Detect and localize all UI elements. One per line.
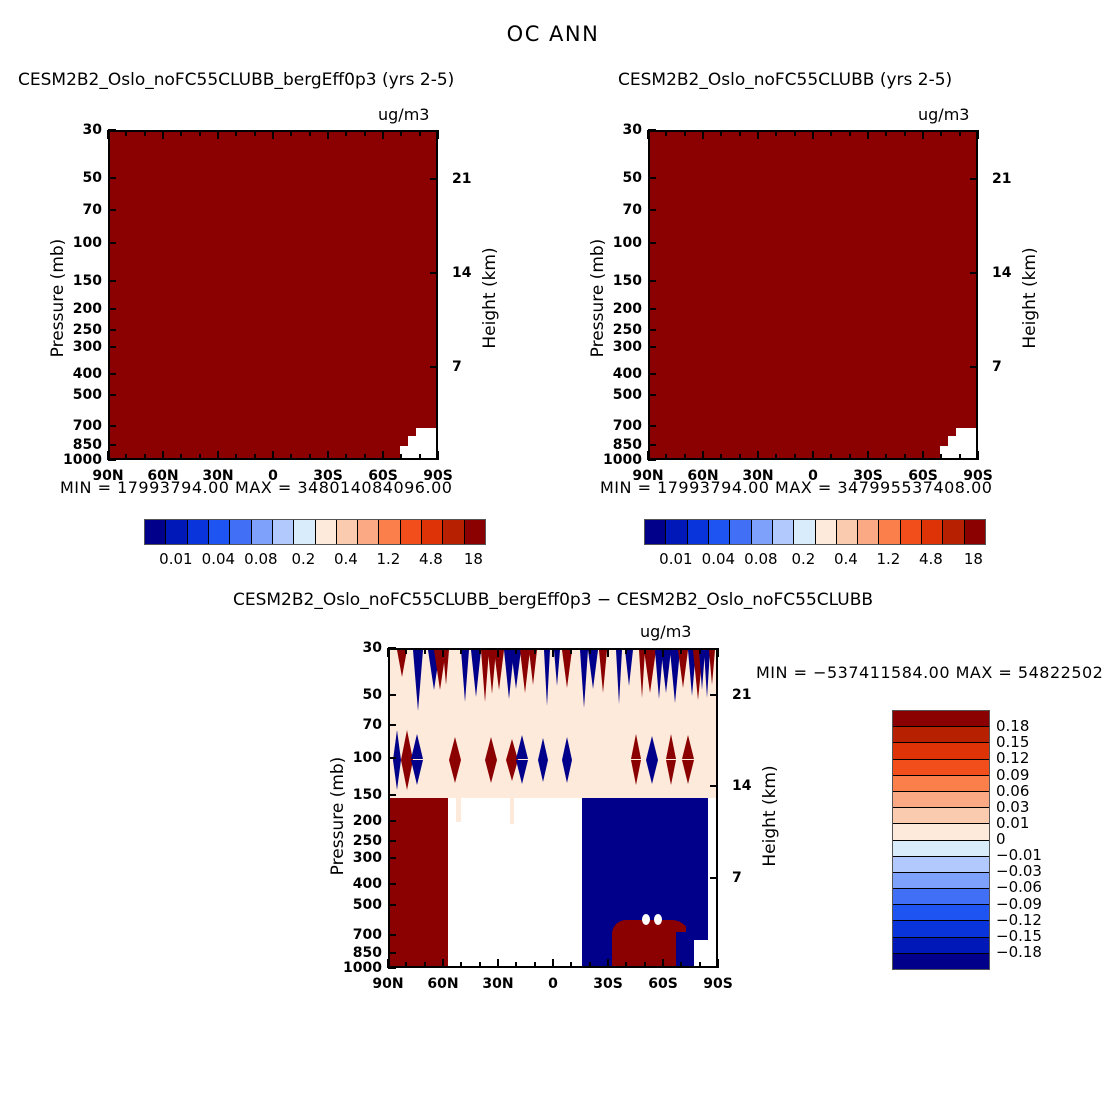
spike-upper-5	[461, 650, 469, 702]
tick-mark-left-50-tr	[648, 177, 656, 179]
pale-sliver-mid	[510, 798, 514, 824]
lens-mid-4	[485, 737, 497, 783]
minor-tick-top-tl	[309, 130, 311, 136]
tick-mark-right-14-diff	[710, 785, 718, 787]
minmax-difference: MIN = −537411584.00 MAX = 54822502	[756, 663, 1103, 682]
spike-upper-6	[471, 650, 481, 697]
minor-tick-bottom-diff	[680, 962, 682, 968]
tick-mark-left-70-diff	[388, 724, 396, 726]
minor-tick-bottom-tl	[290, 454, 292, 460]
tick-mark-left-50-diff	[388, 694, 396, 696]
tick-mark-right-7-diff	[710, 877, 718, 879]
minor-tick-bottom-diff	[699, 962, 701, 968]
tick-mark-top-60S-diff	[662, 648, 664, 657]
height-tick-21-tr: 21	[992, 171, 1032, 187]
tick-mark-bottom-30N-tl	[217, 451, 219, 460]
minor-tick-bottom-tr	[775, 454, 777, 460]
colorbar-segment-6	[273, 520, 294, 544]
spike-upper-27	[678, 650, 688, 688]
lat-tick-90N-tl: 90N	[92, 468, 123, 484]
tick-mark-right-21-tl	[430, 178, 438, 180]
tick-mark-bottom-0-tr	[812, 451, 814, 460]
lat-tick-0-tr: 0	[808, 468, 818, 484]
tick-mark-bottom-30S-tr	[867, 451, 869, 460]
minor-tick-top-diff	[644, 648, 646, 654]
lat-tick-30N-tr: 30N	[742, 468, 773, 484]
colorbar-tick-label-18: 18	[964, 550, 983, 568]
y-axis-title-right-tr: Height (km)	[1020, 218, 1040, 378]
minor-tick-bottom-diff	[570, 962, 572, 968]
tick-mark-left-50-tl	[108, 177, 116, 179]
minor-tick-bottom-tr	[794, 454, 796, 460]
units-label-top-left: ug/m3	[378, 105, 429, 124]
colorbar-segment-10	[358, 520, 379, 544]
lat-tick-30N-diff: 30N	[482, 976, 513, 992]
minor-tick-top-tl	[400, 130, 402, 136]
tick-mark-top-60S-tr	[922, 130, 924, 139]
pressure-tick-50-tl: 50	[46, 170, 102, 186]
diff-colorbar-segment-11	[893, 889, 989, 905]
colorbar-segment-5	[752, 520, 773, 544]
tick-mark-left-150-diff	[388, 794, 396, 796]
units-label-difference: ug/m3	[640, 622, 691, 641]
pressure-tick-500-diff: 500	[326, 897, 382, 913]
lat-tick-30S-tr: 30S	[853, 468, 883, 484]
pressure-tick-100-tr: 100	[586, 235, 642, 251]
lat-tick-90N-tr: 90N	[632, 468, 663, 484]
tick-mark-left-150-tl	[108, 280, 116, 282]
lat-tick-60N-diff: 60N	[427, 976, 458, 992]
pressure-tick-100-tl: 100	[46, 235, 102, 251]
pressure-tick-70-tl: 70	[46, 202, 102, 218]
tick-mark-left-1000-diff	[388, 967, 396, 969]
minor-tick-bottom-tl	[235, 454, 237, 460]
spike-upper-20	[616, 650, 622, 704]
pale-sliver-edge	[456, 798, 461, 822]
spike-upper-0	[397, 650, 407, 677]
pressure-tick-300-diff: 300	[326, 850, 382, 866]
lat-tick-90S-diff: 90S	[703, 976, 733, 992]
minor-tick-top-tl	[144, 130, 146, 136]
spike-band-mid	[390, 728, 716, 794]
diff-colorbar-tick-label-14: −0.18	[996, 943, 1042, 961]
colorbar-segment-3	[709, 520, 730, 544]
panel-title-difference: CESM2B2_Oslo_noFC55CLUBB_bergEff0p3 − CE…	[0, 590, 1106, 610]
tick-mark-top-0-diff	[552, 648, 554, 657]
minor-tick-bottom-diff	[405, 962, 407, 968]
tick-mark-bottom-60S-tl	[382, 451, 384, 460]
colorbar-segment-14	[943, 520, 964, 544]
minor-tick-top-diff	[680, 648, 682, 654]
lens-mid-8	[562, 737, 573, 783]
minor-tick-bottom-tr	[739, 454, 741, 460]
tick-mark-left-500-diff	[388, 904, 396, 906]
tick-mark-right-14-tr	[970, 272, 978, 274]
spike-upper-18	[588, 650, 598, 689]
pressure-tick-700-tr: 700	[586, 418, 642, 434]
tick-mark-bottom-60N-diff	[442, 959, 444, 968]
pressure-tick-250-diff: 250	[326, 833, 382, 849]
lens-mid-6	[516, 735, 528, 785]
lat-tick-90N-diff: 90N	[372, 976, 403, 992]
tick-mark-top-30S-diff	[607, 648, 609, 657]
minor-tick-bottom-tr	[684, 454, 686, 460]
colorbar-segment-2	[688, 520, 709, 544]
minor-tick-bottom-diff	[515, 962, 517, 968]
pressure-tick-100-diff: 100	[326, 750, 382, 766]
tick-mark-left-70-tr	[648, 209, 656, 211]
colorbar-tick-label-0p04: 0.04	[202, 550, 235, 568]
lat-tick-90S-tr: 90S	[963, 468, 993, 484]
minor-tick-top-tr	[940, 130, 942, 136]
tick-mark-bottom-90S-diff	[717, 959, 719, 968]
units-label-top-right: ug/m3	[918, 105, 969, 124]
diff-colorbar-segment-14	[893, 938, 989, 954]
colorbar-segment-7	[794, 520, 815, 544]
pressure-tick-850-diff: 850	[326, 945, 382, 961]
colorbar-segment-10	[858, 520, 879, 544]
negative-sliver-low-2	[686, 918, 708, 940]
minor-tick-top-tr	[665, 130, 667, 136]
colorbar-top-left[interactable]	[144, 519, 486, 545]
colorbar-segment-13	[422, 520, 443, 544]
tick-mark-bottom-0-tl	[272, 451, 274, 460]
minor-tick-bottom-tr	[904, 454, 906, 460]
spike-upper-19	[599, 650, 607, 693]
tick-mark-left-100-tl	[108, 242, 116, 244]
tick-mark-top-0-tr	[812, 130, 814, 139]
pressure-tick-50-diff: 50	[326, 687, 382, 703]
colorbar-segment-3	[209, 520, 230, 544]
minor-tick-top-tr	[959, 130, 961, 136]
colorbar-tick-label-1p2: 1.2	[876, 550, 900, 568]
tick-mark-left-500-tr	[648, 394, 656, 396]
minor-tick-top-tl	[290, 130, 292, 136]
positive-region-northern	[390, 798, 448, 968]
pressure-tick-200-tl: 200	[46, 301, 102, 317]
minor-tick-bottom-tr	[885, 454, 887, 460]
minor-tick-top-tr	[684, 130, 686, 136]
pressure-tick-300-tl: 300	[46, 339, 102, 355]
diff-colorbar-segment-6	[893, 808, 989, 824]
minor-tick-top-diff	[405, 648, 407, 654]
tick-mark-left-30-diff	[388, 647, 396, 649]
lens-mid-3	[449, 737, 462, 783]
minor-tick-top-tr	[775, 130, 777, 136]
minor-tick-bottom-tl	[419, 454, 421, 460]
diff-colorbar-segment-7	[893, 824, 989, 840]
colorbar-segment-2	[188, 520, 209, 544]
minor-tick-bottom-tl	[144, 454, 146, 460]
colorbar-tick-label-0p4: 0.4	[334, 550, 358, 568]
diff-colorbar-segment-12	[893, 905, 989, 921]
colorbar-segment-4	[730, 520, 751, 544]
tick-mark-top-90S-diff	[717, 648, 719, 657]
diff-colorbar-segment-3	[893, 760, 989, 776]
minor-tick-bottom-tr	[720, 454, 722, 460]
tick-mark-bottom-90N-tl	[107, 451, 109, 460]
plot-area-top-right	[648, 130, 978, 460]
tick-mark-top-30S-tl	[327, 130, 329, 139]
tick-mark-bottom-90S-tl	[437, 451, 439, 460]
tick-mark-left-70-tl	[108, 209, 116, 211]
lens-mid-12	[682, 735, 696, 785]
pressure-tick-850-tl: 850	[46, 437, 102, 453]
tick-mark-left-1000-tl	[108, 459, 116, 461]
pressure-tick-50-tr: 50	[586, 170, 642, 186]
tick-mark-bottom-60S-tr	[922, 451, 924, 460]
tick-mark-bottom-60N-tl	[162, 451, 164, 460]
heatmap-fill-top-left	[110, 132, 436, 458]
colorbar-labels-top-right: 0.010.040.080.20.41.24.818	[644, 550, 984, 570]
height-tick-14-diff: 14	[732, 778, 772, 794]
colorbar-segment-0	[145, 520, 166, 544]
diff-colorbar-segment-5	[893, 792, 989, 808]
colorbar-segment-8	[316, 520, 337, 544]
colorbar-segment-6	[773, 520, 794, 544]
pressure-tick-70-tr: 70	[586, 202, 642, 218]
colorbar-tick-label-4p8: 4.8	[919, 550, 943, 568]
minor-tick-top-tr	[794, 130, 796, 136]
tick-mark-top-60N-tr	[702, 130, 704, 139]
tick-mark-bottom-90N-diff	[387, 959, 389, 968]
tick-mark-left-100-diff	[388, 757, 396, 759]
pressure-tick-1000-tl: 1000	[46, 452, 102, 468]
pressure-tick-150-diff: 150	[326, 787, 382, 803]
pressure-tick-700-diff: 700	[326, 927, 382, 943]
tick-mark-top-60N-diff	[442, 648, 444, 657]
pressure-tick-30-tr: 30	[586, 122, 642, 138]
spike-upper-15	[554, 650, 560, 686]
pressure-tick-400-tl: 400	[46, 366, 102, 382]
minor-tick-top-tl	[364, 130, 366, 136]
height-tick-7-diff: 7	[732, 870, 772, 886]
lens-mid-9	[631, 734, 642, 785]
tick-mark-right-7-tl	[430, 366, 438, 368]
pressure-tick-200-diff: 200	[326, 813, 382, 829]
pressure-tick-400-diff: 400	[326, 876, 382, 892]
lens-mid-10	[646, 736, 658, 785]
tick-mark-left-850-diff	[388, 952, 396, 954]
colorbar-top-right[interactable]	[644, 519, 986, 545]
tick-mark-bottom-90N-tr	[647, 451, 649, 460]
minor-tick-top-tr	[849, 130, 851, 136]
tick-mark-left-700-diff	[388, 934, 396, 936]
lat-tick-60S-tr: 60S	[908, 468, 938, 484]
diff-colorbar-segment-15	[893, 954, 989, 969]
tick-mark-bottom-90S-tr	[977, 451, 979, 460]
height-tick-14-tr: 14	[992, 265, 1032, 281]
tick-mark-top-90S-tr	[977, 130, 979, 139]
pressure-tick-200-tr: 200	[586, 301, 642, 317]
lat-tick-60S-diff: 60S	[648, 976, 678, 992]
minor-tick-top-diff	[424, 648, 426, 654]
colorbar-segment-14	[443, 520, 464, 544]
colorbar-tick-label-0p2: 0.2	[291, 550, 315, 568]
colorbar-segment-15	[965, 520, 985, 544]
tick-mark-bottom-30S-diff	[607, 959, 609, 968]
tick-mark-left-850-tr	[648, 444, 656, 446]
minor-tick-bottom-tl	[199, 454, 201, 460]
tick-mark-left-30-tr	[648, 129, 656, 131]
minor-tick-top-diff	[699, 648, 701, 654]
diff-colorbar-segment-1	[893, 727, 989, 743]
colorbar-tick-label-0p08: 0.08	[744, 550, 777, 568]
diff-colorbar-segment-4	[893, 776, 989, 792]
minor-tick-bottom-tr	[665, 454, 667, 460]
minor-tick-top-tr	[739, 130, 741, 136]
tick-mark-left-400-diff	[388, 883, 396, 885]
lat-tick-60N-tr: 60N	[687, 468, 718, 484]
pressure-tick-850-tr: 850	[586, 437, 642, 453]
colorbar-segment-5	[252, 520, 273, 544]
colorbar-tick-label-0p01: 0.01	[659, 550, 692, 568]
minor-tick-top-tr	[830, 130, 832, 136]
colorbar-tick-label-1p2: 1.2	[376, 550, 400, 568]
colorbar-segment-11	[379, 520, 400, 544]
minor-tick-top-tl	[125, 130, 127, 136]
height-tick-7-tr: 7	[992, 359, 1032, 375]
minor-tick-bottom-tl	[364, 454, 366, 460]
blank-dot-b	[654, 914, 662, 925]
tick-mark-top-30N-tl	[217, 130, 219, 139]
pressure-tick-500-tr: 500	[586, 387, 642, 403]
colorbar-segment-1	[166, 520, 187, 544]
colorbar-segment-0	[645, 520, 666, 544]
colorbar-segment-12	[401, 520, 422, 544]
minor-tick-bottom-tl	[345, 454, 347, 460]
panel-title-top-right: CESM2B2_Oslo_noFC55CLUBB (yrs 2-5)	[618, 70, 952, 90]
tick-mark-left-850-tl	[108, 444, 116, 446]
colorbar-tick-label-4p8: 4.8	[419, 550, 443, 568]
colorbar-segment-9	[337, 520, 358, 544]
tick-mark-left-250-tr	[648, 329, 656, 331]
colorbar-tick-label-0p04: 0.04	[702, 550, 735, 568]
tick-mark-top-90N-tl	[107, 130, 109, 139]
pressure-tick-300-tr: 300	[586, 339, 642, 355]
blank-dot-a	[642, 914, 650, 925]
height-tick-21-tl: 21	[452, 171, 492, 187]
tick-mark-top-30S-tr	[867, 130, 869, 139]
tick-mark-left-300-tr	[648, 346, 656, 348]
minor-tick-top-tl	[180, 130, 182, 136]
pressure-tick-250-tr: 250	[586, 322, 642, 338]
colorbar-difference[interactable]	[892, 710, 990, 970]
diff-colorbar-segment-8	[893, 841, 989, 857]
colorbar-segment-1	[666, 520, 687, 544]
lat-tick-30N-tl: 30N	[202, 468, 233, 484]
minor-tick-top-diff	[479, 648, 481, 654]
minor-tick-top-tr	[885, 130, 887, 136]
tick-mark-right-7-tr	[970, 366, 978, 368]
colorbar-tick-label-0p4: 0.4	[834, 550, 858, 568]
minor-tick-top-diff	[460, 648, 462, 654]
minor-tick-bottom-diff	[589, 962, 591, 968]
pressure-tick-150-tr: 150	[586, 273, 642, 289]
lat-tick-0-tl: 0	[268, 468, 278, 484]
spike-upper-21	[625, 650, 633, 686]
tick-mark-left-300-tl	[108, 346, 116, 348]
colorbar-segment-7	[294, 520, 315, 544]
minor-tick-bottom-diff	[644, 962, 646, 968]
colorbar-tick-label-0p08: 0.08	[244, 550, 277, 568]
tick-mark-right-21-tr	[970, 178, 978, 180]
minor-tick-bottom-diff	[534, 962, 536, 968]
spike-upper-1	[413, 650, 423, 711]
tick-mark-left-400-tr	[648, 373, 656, 375]
colorbar-segment-11	[879, 520, 900, 544]
lat-tick-60S-tl: 60S	[368, 468, 398, 484]
tick-mark-left-30-tl	[108, 129, 116, 131]
lat-tick-30S-diff: 30S	[593, 976, 623, 992]
minor-tick-bottom-tr	[959, 454, 961, 460]
pressure-tick-250-tl: 250	[46, 322, 102, 338]
colorbar-segment-8	[816, 520, 837, 544]
tick-mark-top-90S-tl	[437, 130, 439, 139]
diff-colorbar-segment-9	[893, 857, 989, 873]
y-axis-title-right-tl: Height (km)	[480, 218, 500, 378]
tick-mark-left-200-tl	[108, 308, 116, 310]
lat-tick-0-diff: 0	[548, 976, 558, 992]
lat-tick-60N-tl: 60N	[147, 468, 178, 484]
diff-colorbar-segment-2	[893, 743, 989, 759]
colorbar-segment-15	[465, 520, 485, 544]
lat-tick-30S-tl: 30S	[313, 468, 343, 484]
colorbar-segment-9	[837, 520, 858, 544]
tick-mark-top-0-tl	[272, 130, 274, 139]
minor-tick-top-diff	[625, 648, 627, 654]
plot-area-difference	[388, 648, 718, 968]
pressure-tick-700-tl: 700	[46, 418, 102, 434]
tick-mark-top-30N-diff	[497, 648, 499, 657]
pressure-tick-1000-diff: 1000	[326, 960, 382, 976]
spike-upper-32	[709, 650, 715, 685]
lens-mid-7	[538, 738, 549, 783]
minor-tick-top-diff	[589, 648, 591, 654]
colorbar-labels-top-left: 0.010.040.080.20.41.24.818	[144, 550, 484, 570]
minor-tick-top-tl	[235, 130, 237, 136]
colorbar-segment-13	[922, 520, 943, 544]
lat-tick-90S-tl: 90S	[423, 468, 453, 484]
minor-tick-bottom-tr	[940, 454, 942, 460]
spike-upper-9	[494, 650, 504, 690]
spike-upper-4	[443, 650, 449, 685]
tick-mark-bottom-60N-tr	[702, 451, 704, 460]
tick-mark-left-700-tr	[648, 425, 656, 427]
tick-mark-left-500-tl	[108, 394, 116, 396]
pressure-tick-30-diff: 30	[326, 640, 382, 656]
minor-tick-top-tl	[254, 130, 256, 136]
tick-mark-bottom-30S-tl	[327, 451, 329, 460]
minor-tick-top-diff	[570, 648, 572, 654]
pressure-tick-150-tl: 150	[46, 273, 102, 289]
panel-title-top-left: CESM2B2_Oslo_noFC55CLUBB_bergEff0p3 (yrs…	[18, 70, 454, 90]
tick-mark-top-60N-tl	[162, 130, 164, 139]
colorbar-segment-4	[230, 520, 251, 544]
tick-mark-left-1000-tr	[648, 459, 656, 461]
figure-main-title: OC ANN	[0, 22, 1106, 46]
pressure-tick-1000-tr: 1000	[586, 452, 642, 468]
height-tick-21-diff: 21	[732, 687, 772, 703]
colorbar-labels-difference: 0.180.150.120.090.060.030.010−0.01−0.03−…	[996, 710, 1086, 968]
minor-tick-top-diff	[515, 648, 517, 654]
height-tick-7-tl: 7	[452, 359, 492, 375]
pressure-tick-30-tl: 30	[46, 122, 102, 138]
minor-tick-bottom-tl	[400, 454, 402, 460]
tick-mark-left-700-tl	[108, 425, 116, 427]
colorbar-tick-label-0p01: 0.01	[159, 550, 192, 568]
minor-tick-bottom-diff	[424, 962, 426, 968]
